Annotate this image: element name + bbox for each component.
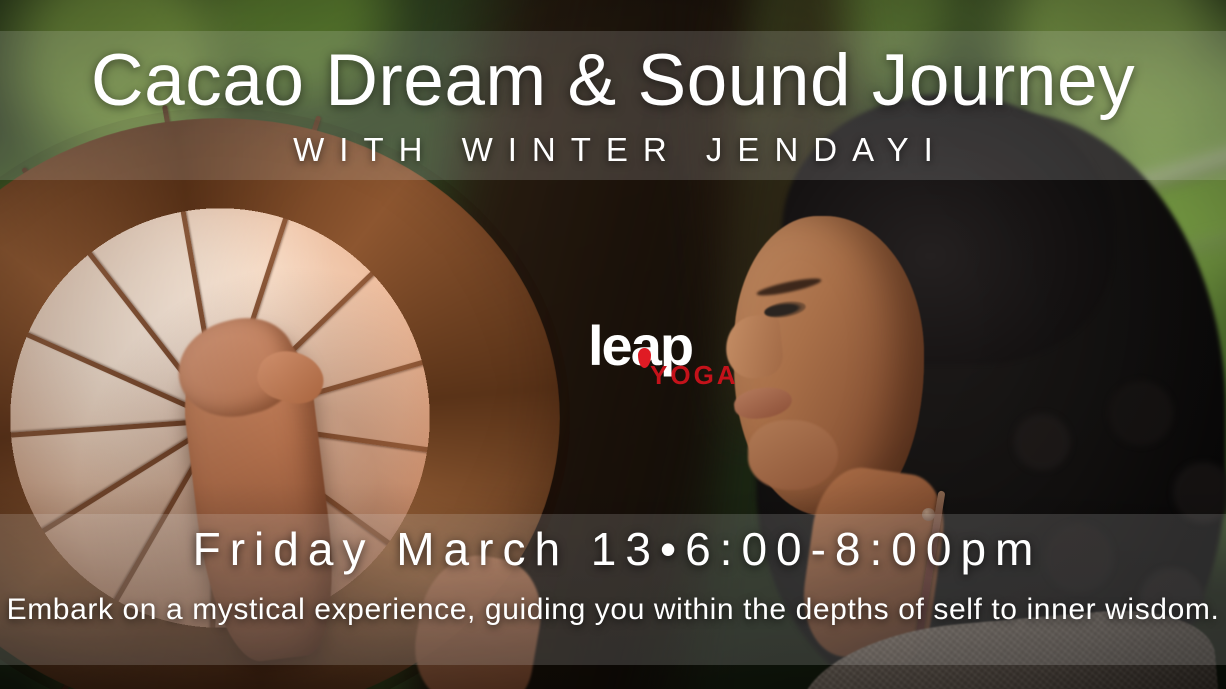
event-poster: Cacao Dream & Sound Journey WITH WINTER …: [0, 0, 1226, 689]
event-title: Cacao Dream & Sound Journey: [0, 44, 1226, 117]
logo-sub-wordmark: YOGA: [650, 362, 739, 388]
event-tagline: Embark on a mystical experience, guiding…: [0, 593, 1226, 627]
leap-yoga-logo: leap YOGA: [588, 318, 728, 390]
event-datetime: Friday March 13•6:00-8:00pm: [0, 522, 1226, 576]
event-presenter: WITH WINTER JENDAYI: [0, 131, 1226, 169]
